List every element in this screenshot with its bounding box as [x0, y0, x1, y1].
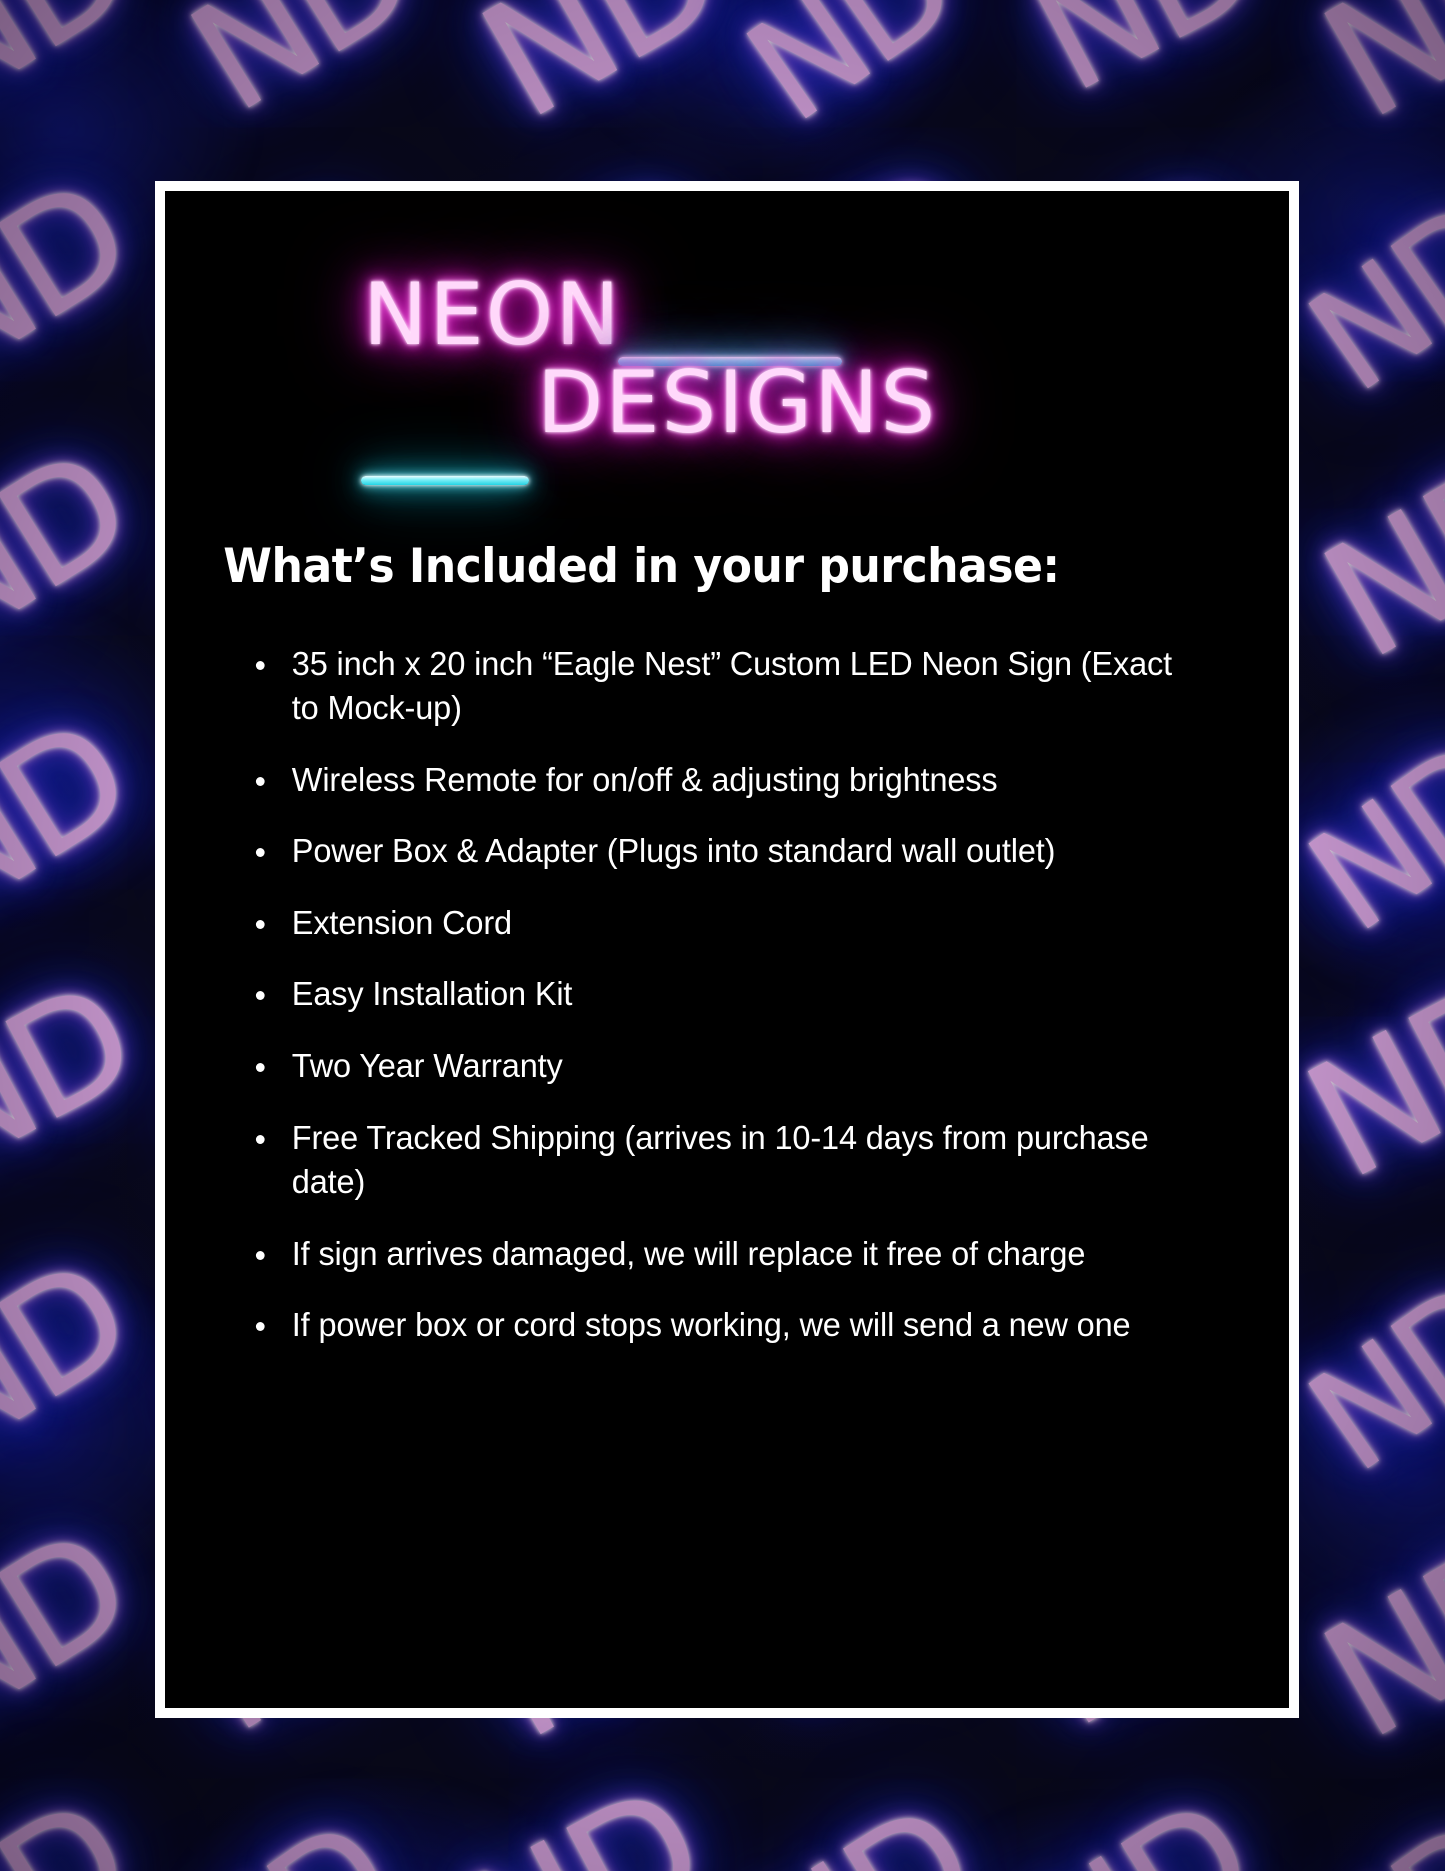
benefit-list-item: Power Box & Adapter (Plugs into standard… — [253, 830, 1175, 875]
neon-monogram-icon: ND — [1288, 1262, 1445, 1495]
background-pattern-tile: ND — [1284, 420, 1445, 690]
neon-monogram-icon: ND — [1302, 430, 1445, 684]
background-pattern-tile: ND — [0, 1230, 161, 1500]
background-pattern-tile: ND — [723, 0, 1004, 150]
neon-monogram-icon: ND — [1009, 1779, 1271, 1871]
neon-monogram-icon: ND — [1288, 722, 1445, 955]
background-pattern-tile: ND — [723, 1770, 1004, 1871]
benefit-list-item: Free Tracked Shipping (arrives in 10-14 … — [253, 1117, 1175, 1206]
background-pattern-tile: ND — [0, 1500, 161, 1770]
benefit-list-item: If power box or cord stops working, we w… — [253, 1304, 1175, 1349]
logo-neon-word-line2: DESIGNS — [537, 353, 937, 453]
background-pattern-tile: ND — [1284, 1500, 1445, 1770]
benefit-list-item: Wireless Remote for on/off & adjusting b… — [253, 759, 1175, 804]
neon-monogram-icon: ND — [170, 0, 432, 136]
background-pattern-tile: ND — [0, 150, 161, 420]
neon-monogram-icon: ND — [1288, 1802, 1445, 1871]
neon-monogram-icon: ND — [0, 962, 151, 1196]
benefit-list-item: Extension Cord — [253, 902, 1175, 947]
neon-monogram-icon: ND — [0, 1509, 148, 1751]
background-pattern-tile: ND — [0, 0, 161, 150]
neon-monogram-icon: ND — [0, 1779, 148, 1871]
neon-monogram-icon: ND — [732, 1784, 994, 1871]
page-title: What’s Included in your purchase: — [165, 541, 1222, 593]
neon-monogram-icon: ND — [165, 1802, 413, 1871]
benefit-list-item: 35 inch x 20 inch “Eagle Nest” Custom LE… — [253, 643, 1175, 732]
neon-monogram-icon: ND — [0, 0, 148, 131]
background-pattern-tile: ND — [0, 1770, 161, 1871]
neon-monogram-icon: ND — [1288, 182, 1445, 415]
neon-monogram-icon: ND — [1302, 1510, 1445, 1764]
background-pattern-tile: ND — [1284, 960, 1445, 1230]
background-pattern-tile: ND — [0, 960, 161, 1230]
content-card-frame: NEON DESIGNS What’s Included in your pur… — [155, 181, 1299, 1718]
background-pattern-tile: ND — [0, 690, 161, 960]
brand-logo: NEON DESIGNS — [165, 247, 1289, 477]
background-pattern-tile: ND — [0, 420, 161, 690]
logo-neon-word-line1: NEON — [363, 265, 622, 365]
neon-monogram-icon: ND — [443, 1764, 722, 1871]
neon-bar-bottom-icon — [361, 476, 529, 485]
content-card: NEON DESIGNS What’s Included in your pur… — [165, 191, 1289, 1708]
neon-monogram-icon: ND — [0, 699, 148, 941]
benefit-list-item: If sign arrives damaged, we will replace… — [253, 1233, 1175, 1278]
neon-monogram-icon: ND — [1014, 0, 1275, 116]
background-pattern-tile: ND — [1003, 1770, 1284, 1871]
benefits-list: 35 inch x 20 inch “Eagle Nest” Custom LE… — [165, 593, 1289, 1349]
neon-monogram-icon: ND — [1302, 0, 1445, 144]
neon-monogram-icon: ND — [1286, 954, 1445, 1204]
background-pattern-tile: ND — [442, 0, 723, 150]
background-pattern-tile: ND — [161, 1770, 442, 1871]
neon-monogram-icon: ND — [726, 0, 974, 145]
neon-monogram-icon: ND — [0, 429, 148, 671]
background-pattern-tile: ND — [1284, 1230, 1445, 1500]
benefit-list-item: Easy Installation Kit — [253, 973, 1175, 1018]
background-pattern-tile: ND — [442, 1770, 723, 1871]
benefit-list-item: Two Year Warranty — [253, 1045, 1175, 1090]
neon-monogram-icon: ND — [0, 159, 148, 401]
background-pattern-tile: ND — [1003, 0, 1284, 150]
neon-monogram-icon: ND — [0, 1239, 148, 1481]
background-pattern-tile: ND — [1284, 0, 1445, 150]
background-pattern-tile: ND — [1284, 150, 1445, 420]
background-pattern-tile: ND — [1284, 690, 1445, 960]
background-pattern-tile: ND — [1284, 1770, 1445, 1871]
neon-monogram-icon: ND — [459, 0, 739, 144]
background-pattern-tile: ND — [161, 0, 442, 150]
